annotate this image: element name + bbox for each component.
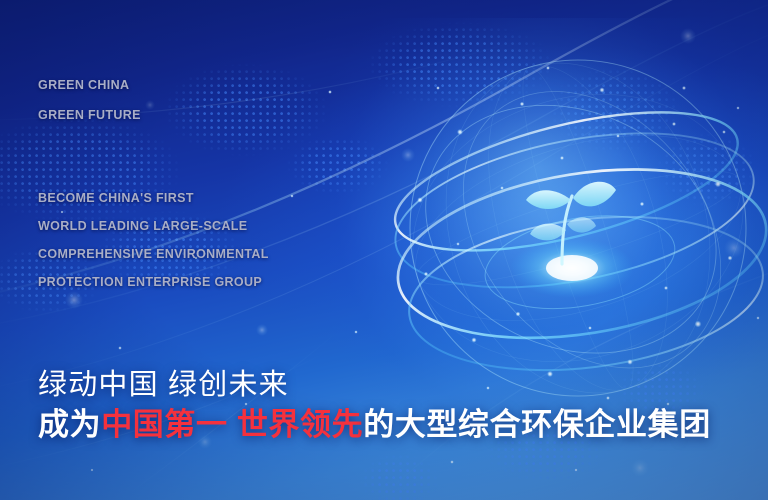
sprout-leaf-lower-left bbox=[530, 224, 566, 241]
mission-statement-block: BECOME CHINA'S FIRST WORLD LEADING LARGE… bbox=[38, 184, 269, 296]
mission-line-4: PROTECTION ENTERPRISE GROUP bbox=[38, 268, 269, 296]
globe-orbit-rings bbox=[382, 41, 768, 418]
sprout-seedling-icon bbox=[526, 182, 616, 264]
sprout-leaf-upper-right bbox=[573, 182, 616, 207]
headline-prefix: 成为 bbox=[38, 407, 101, 442]
mission-line-2: WORLD LEADING LARGE-SCALE bbox=[38, 212, 269, 240]
mission-line-1: BECOME CHINA'S FIRST bbox=[38, 184, 269, 212]
globe-glow bbox=[330, 18, 768, 418]
headline-highlight: 中国第一 世界领先 bbox=[101, 407, 363, 442]
globe-outline bbox=[410, 60, 746, 396]
headline-line-2: 成为中国第一 世界领先的大型综合环保企业集团 bbox=[38, 404, 711, 446]
globe-sphere-body bbox=[410, 60, 746, 396]
sprout-leaf-lower-right bbox=[567, 217, 596, 232]
tagline-line-1: GREEN CHINA bbox=[38, 70, 141, 100]
globe-core-burst bbox=[510, 238, 634, 298]
headline-block: 绿动中国 绿创未来 成为中国第一 世界领先的大型综合环保企业集团 bbox=[38, 366, 711, 446]
tagline-block: GREEN CHINA GREEN FUTURE bbox=[38, 70, 141, 130]
globe-particles bbox=[417, 66, 739, 400]
sprout-leaf-upper-left bbox=[526, 190, 571, 209]
tagline-line-2: GREEN FUTURE bbox=[38, 100, 141, 130]
hero-banner: GREEN CHINA GREEN FUTURE BECOME CHINA'S … bbox=[0, 0, 768, 500]
mission-line-3: COMPREHENSIVE ENVIRONMENTAL bbox=[38, 240, 269, 268]
headline-line-1: 绿动中国 绿创未来 bbox=[38, 366, 711, 404]
headline-suffix: 的大型综合环保企业集团 bbox=[363, 407, 711, 442]
